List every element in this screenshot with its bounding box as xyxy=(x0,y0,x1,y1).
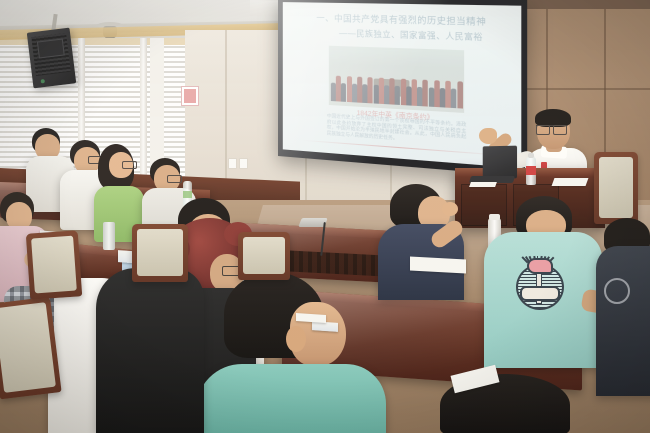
presenter-glasses-lens-right xyxy=(553,125,567,135)
bottle-cap xyxy=(528,153,534,158)
painting-figure xyxy=(445,81,451,108)
papers-on-desk xyxy=(410,257,466,274)
wall-speaker-icon xyxy=(27,28,77,89)
student-navy-top-right xyxy=(382,184,474,298)
painting-figure xyxy=(428,87,433,106)
painting-figure xyxy=(451,89,457,109)
emblem-hands xyxy=(520,286,560,301)
slide-subtitle: ——民族独立、国家富强、人民富裕 xyxy=(312,27,514,44)
painting-figure xyxy=(347,76,352,102)
painting-figure xyxy=(368,77,373,103)
student-torso xyxy=(196,364,386,433)
chair-left-mid xyxy=(26,230,82,299)
slide-title: 一、中国共产党具有强烈的历史担当精神 xyxy=(292,11,514,28)
painting-figures xyxy=(329,60,464,109)
water-bottle xyxy=(526,157,536,185)
speaker-led-icon xyxy=(41,79,45,83)
speaker-horn xyxy=(37,38,65,58)
student-glasses-icon xyxy=(122,161,137,169)
chair-cushion xyxy=(31,236,77,294)
painting-figure xyxy=(373,85,378,104)
painting-figure xyxy=(401,79,406,106)
painting-figure xyxy=(440,88,445,108)
slide-historical-painting xyxy=(329,46,464,113)
student-teal-tee-foreground xyxy=(206,272,376,433)
lecture-hall-photo: 一、中国共产党具有强烈的历史担当精神 ——民族独立、国家富强、人民富裕 1842… xyxy=(0,0,650,433)
painting-figure xyxy=(390,78,395,105)
tshirt-emblem-graphic xyxy=(510,254,566,312)
student-torso xyxy=(96,268,204,433)
painting-figure xyxy=(412,79,417,106)
painting-figure xyxy=(423,80,428,107)
chair-center-2 xyxy=(238,232,290,280)
student-dark-tee-right-edge xyxy=(600,218,650,398)
presenter-glasses-lens-left xyxy=(536,125,550,135)
chair-cushion xyxy=(0,302,56,393)
painting-figure xyxy=(379,78,384,104)
chair-center xyxy=(132,224,188,282)
painting-figure xyxy=(417,87,422,106)
painting-figure xyxy=(406,86,411,105)
wall-outlet-icon xyxy=(239,158,248,169)
metal-tumbler xyxy=(103,222,115,250)
laptop-screen xyxy=(483,146,517,179)
slide-divider xyxy=(300,140,505,156)
painting-figure xyxy=(341,83,346,102)
painting-figure xyxy=(457,81,463,108)
chair-cushion xyxy=(243,237,285,274)
student-black-shirt-bottom-left xyxy=(96,268,206,433)
student-glasses-icon xyxy=(167,175,182,183)
presenter-hand xyxy=(479,128,497,144)
sleeve-logo xyxy=(604,278,630,304)
emblem-cap xyxy=(527,258,553,274)
student-ear xyxy=(286,326,306,352)
wall-outlet-icon xyxy=(228,158,237,169)
fire-safety-sign-icon xyxy=(181,86,199,106)
painting-figure xyxy=(395,86,400,105)
chair-cushion xyxy=(137,229,183,276)
presenter-papers xyxy=(552,178,589,186)
bottle-label xyxy=(183,191,192,198)
painting-figure xyxy=(434,80,439,107)
student-torso xyxy=(596,246,650,396)
student-hand xyxy=(442,202,458,216)
bottle-label xyxy=(526,166,536,175)
